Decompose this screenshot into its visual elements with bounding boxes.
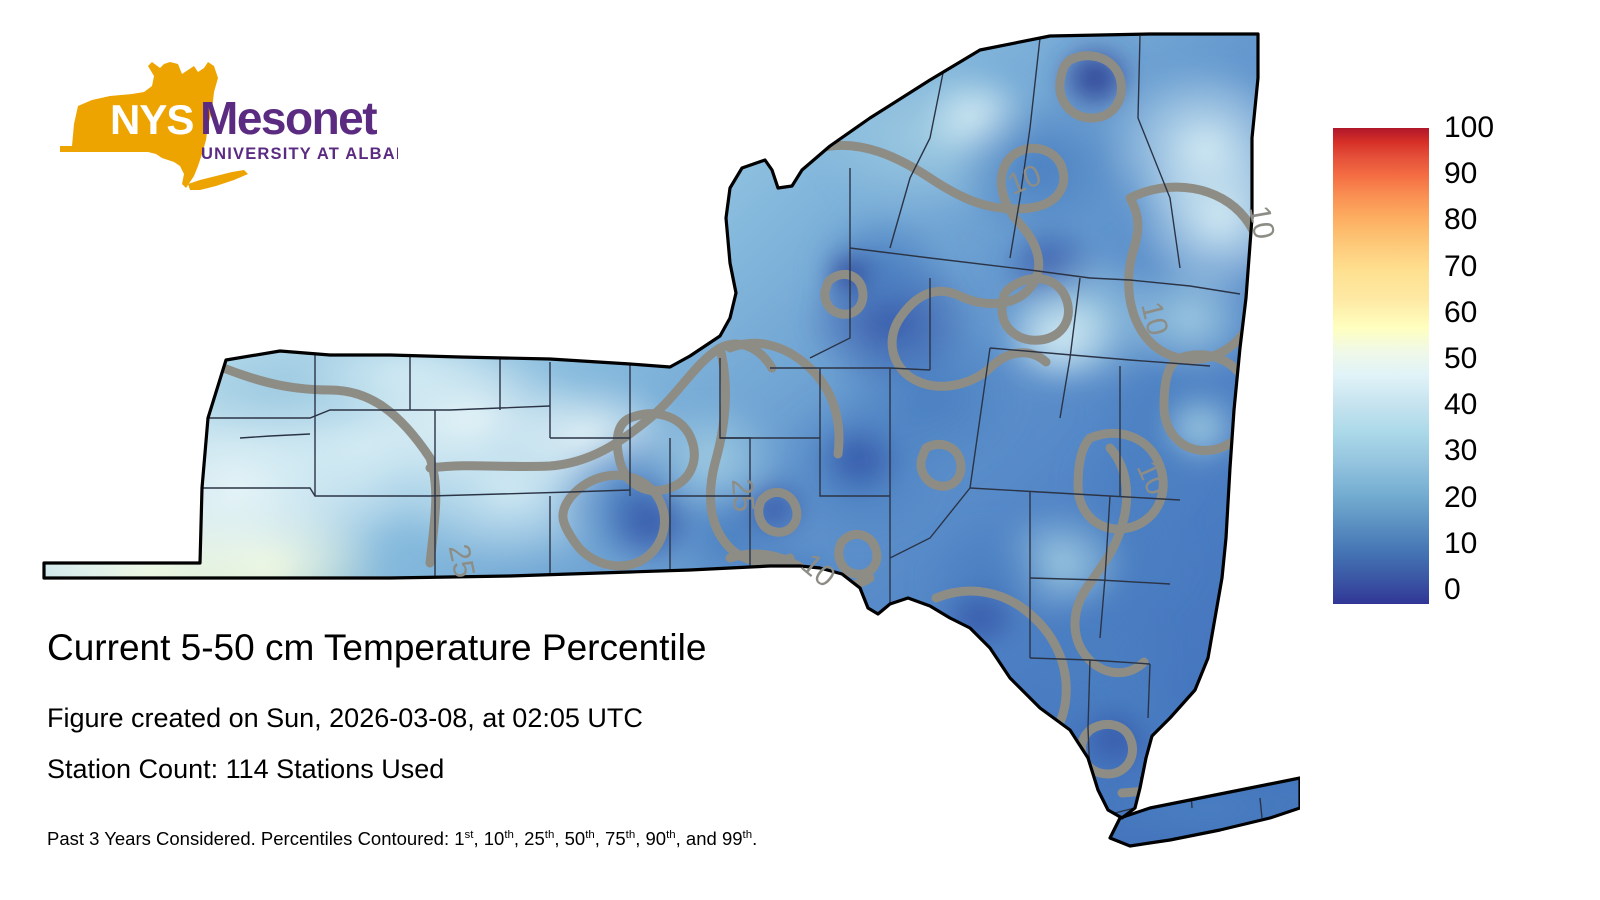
long-island-silhouette-icon <box>188 170 248 190</box>
percentile-colorbar <box>1333 128 1429 604</box>
colorbar-tick-labels: 1009080706050403020100 <box>1444 100 1574 630</box>
figure-canvas: 10101010102525 NYS Mesonet UNIVERSITY AT… <box>0 0 1600 900</box>
colorbar-tick-80: 80 <box>1444 205 1477 235</box>
logo-nys-text: NYS <box>110 96 193 143</box>
colorbar-tick-50: 50 <box>1444 344 1477 374</box>
contour-label-10: 10 <box>1242 203 1280 242</box>
figure-title: Current 5-50 cm Temperature Percentile <box>47 627 706 669</box>
percentile-footnote: Past 3 Years Considered. Percentiles Con… <box>47 828 757 850</box>
figure-created-timestamp: Figure created on Sun, 2026-03-08, at 02… <box>47 702 643 734</box>
nys-mesonet-logo: NYS Mesonet UNIVERSITY AT ALBANY <box>48 62 398 192</box>
colorbar-tick-20: 20 <box>1444 483 1477 513</box>
colorbar-tick-10: 10 <box>1444 529 1477 559</box>
contour-label-25: 25 <box>725 478 760 514</box>
colorbar-tick-90: 90 <box>1444 159 1477 189</box>
logo-mesonet-text: Mesonet <box>200 92 377 144</box>
colorbar-tick-70: 70 <box>1444 252 1477 282</box>
colorbar-tick-60: 60 <box>1444 298 1477 328</box>
logo-subtitle-text: UNIVERSITY AT ALBANY <box>201 145 398 163</box>
station-count-line: Station Count: 114 Stations Used <box>47 753 444 785</box>
colorbar-gradient <box>1333 128 1429 604</box>
colorbar-tick-0: 0 <box>1444 575 1461 605</box>
colorbar-tick-40: 40 <box>1444 390 1477 420</box>
colorbar-tick-100: 100 <box>1444 113 1494 143</box>
colorbar-tick-30: 30 <box>1444 436 1477 466</box>
contour-label-25: 25 <box>442 541 481 581</box>
